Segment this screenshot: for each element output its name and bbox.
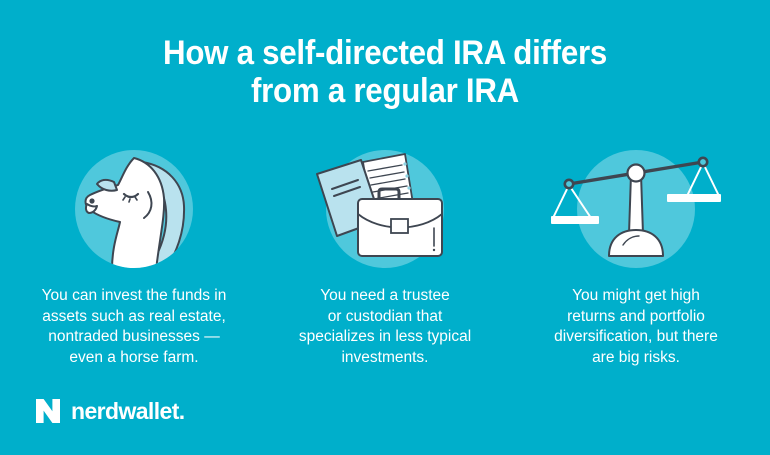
page-title-line-1: How a self-directed IRA differs <box>31 34 739 72</box>
page-title: How a self-directed IRA differs from a r… <box>31 34 739 110</box>
left-pan <box>551 216 599 224</box>
caption-line: are big risks. <box>508 348 764 369</box>
caption-line: diversification, but there <box>508 327 764 348</box>
horse-head-illustration <box>64 140 204 272</box>
column-2-caption: You need a trustee or custodian that spe… <box>257 286 513 368</box>
scale-column <box>629 174 643 234</box>
right-pivot-ring <box>699 158 707 166</box>
caption-line: You might get high <box>508 286 764 307</box>
horse-nostril <box>89 198 94 203</box>
nerdwallet-n-mark <box>34 397 62 425</box>
caption-line: even a horse farm. <box>6 348 262 369</box>
nerdwallet-wordmark: nerdwallet. <box>71 400 185 423</box>
infographic-canvas: How a self-directed IRA differs from a r… <box>0 0 770 455</box>
caption-line: or custodian that <box>257 307 513 328</box>
columns-container: You can invest the funds in assets such … <box>0 140 770 380</box>
caption-line: You can invest the funds in <box>6 286 262 307</box>
page-title-line-2: from a regular IRA <box>31 72 739 110</box>
column-1-art <box>6 140 262 272</box>
column-2: You need a trustee or custodian that spe… <box>257 140 513 368</box>
column-3: You might get high returns and portfolio… <box>508 140 764 368</box>
column-1-caption: You can invest the funds in assets such … <box>6 286 262 368</box>
balance-scales-illustration <box>551 140 721 272</box>
column-3-caption: You might get high returns and portfolio… <box>508 286 764 368</box>
nerdwallet-logo[interactable]: nerdwallet. <box>34 396 185 426</box>
caption-line: specializes in less typical <box>257 327 513 348</box>
column-2-art <box>257 140 513 272</box>
left-pivot-ring <box>565 180 573 188</box>
scale-center-pivot <box>628 165 645 182</box>
caption-line: returns and portfolio <box>508 307 764 328</box>
caption-line: nontraded businesses — <box>6 327 262 348</box>
caption-line: investments. <box>257 348 513 369</box>
caption-line: You need a trustee <box>257 286 513 307</box>
folder-documents-briefcase-illustration <box>295 140 475 272</box>
briefcase-clasp <box>391 219 408 233</box>
briefcase <box>358 189 442 256</box>
column-3-art <box>508 140 764 272</box>
right-pan <box>667 194 721 202</box>
column-1: You can invest the funds in assets such … <box>6 140 262 368</box>
briefcase-detail-dot <box>433 249 435 251</box>
caption-line: assets such as real estate, <box>6 307 262 328</box>
